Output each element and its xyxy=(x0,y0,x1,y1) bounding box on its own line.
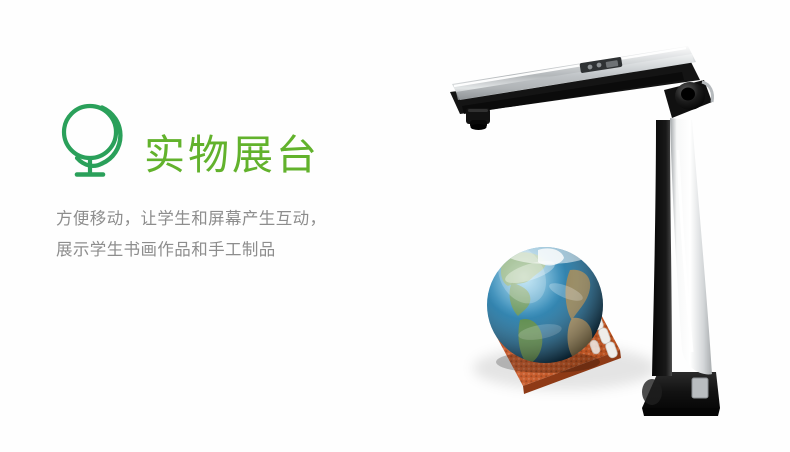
desk-globe-icon xyxy=(56,98,140,182)
description-line-2: 展示学生书画作品和手工制品 xyxy=(56,235,456,266)
description-text: 方便移动，让学生和屏幕产生互动， 展示学生书画作品和手工制品 xyxy=(56,204,456,266)
hinge-knuckle xyxy=(664,80,713,118)
camera-lens xyxy=(466,108,490,130)
title-row: 实物展台 xyxy=(56,96,456,182)
base-port-panel xyxy=(692,378,708,398)
product-image xyxy=(420,20,790,440)
product-banner: 实物展台 方便移动，让学生和屏幕产生互动， 展示学生书画作品和手工制品 xyxy=(0,0,790,452)
text-block: 实物展台 方便移动，让学生和屏幕产生互动， 展示学生书画作品和手工制品 xyxy=(56,96,456,266)
page-title: 实物展台 xyxy=(144,135,320,182)
document-camera-illustration xyxy=(420,20,790,440)
description-line-1: 方便移动，让学生和屏幕产生互动， xyxy=(56,204,456,235)
column-edge xyxy=(652,120,672,376)
